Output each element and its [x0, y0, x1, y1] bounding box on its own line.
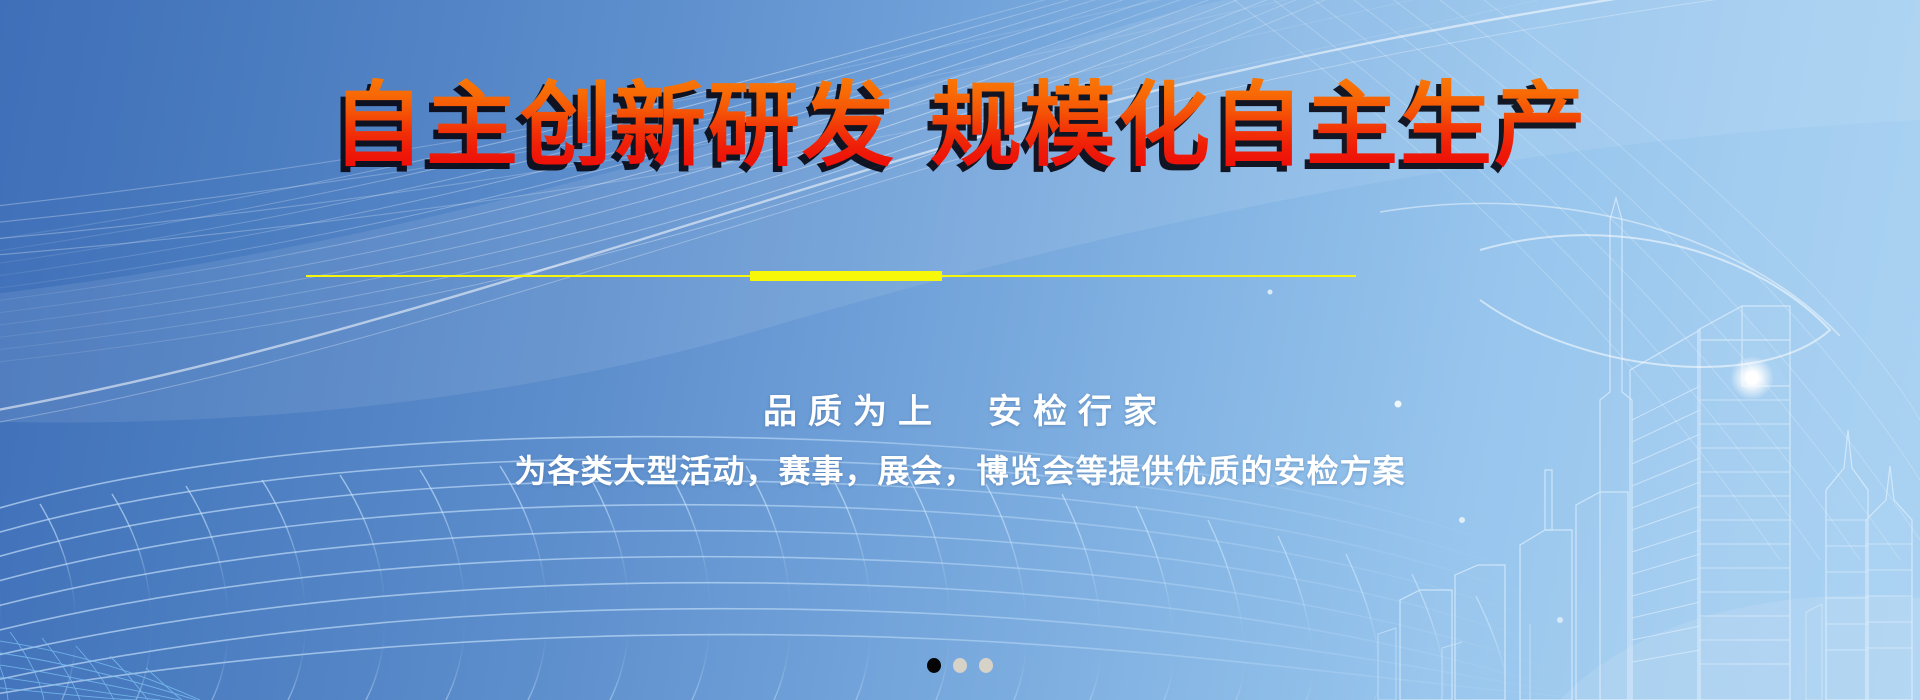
divider [306, 270, 1356, 284]
divider-accent-bar [750, 271, 942, 281]
carousel-dot-1[interactable] [927, 658, 941, 673]
page-title: 自主创新研发 规模化自主生产 [332, 78, 1588, 175]
description-text: 为各类大型活动，赛事，展会，博览会等提供优质的安检方案 [0, 446, 1920, 492]
carousel-dot-2[interactable] [953, 658, 967, 673]
headline-container: 自主创新研发 规模化自主生产 [0, 78, 1920, 175]
carousel-dots[interactable] [0, 658, 1920, 673]
subtitle: 品质为上 安检行家 [0, 384, 1920, 433]
carousel-dot-3[interactable] [979, 658, 993, 673]
hero-banner: 自主创新研发 规模化自主生产 品质为上 安检行家 为各类大型活动，赛事，展会，博… [0, 0, 1920, 700]
